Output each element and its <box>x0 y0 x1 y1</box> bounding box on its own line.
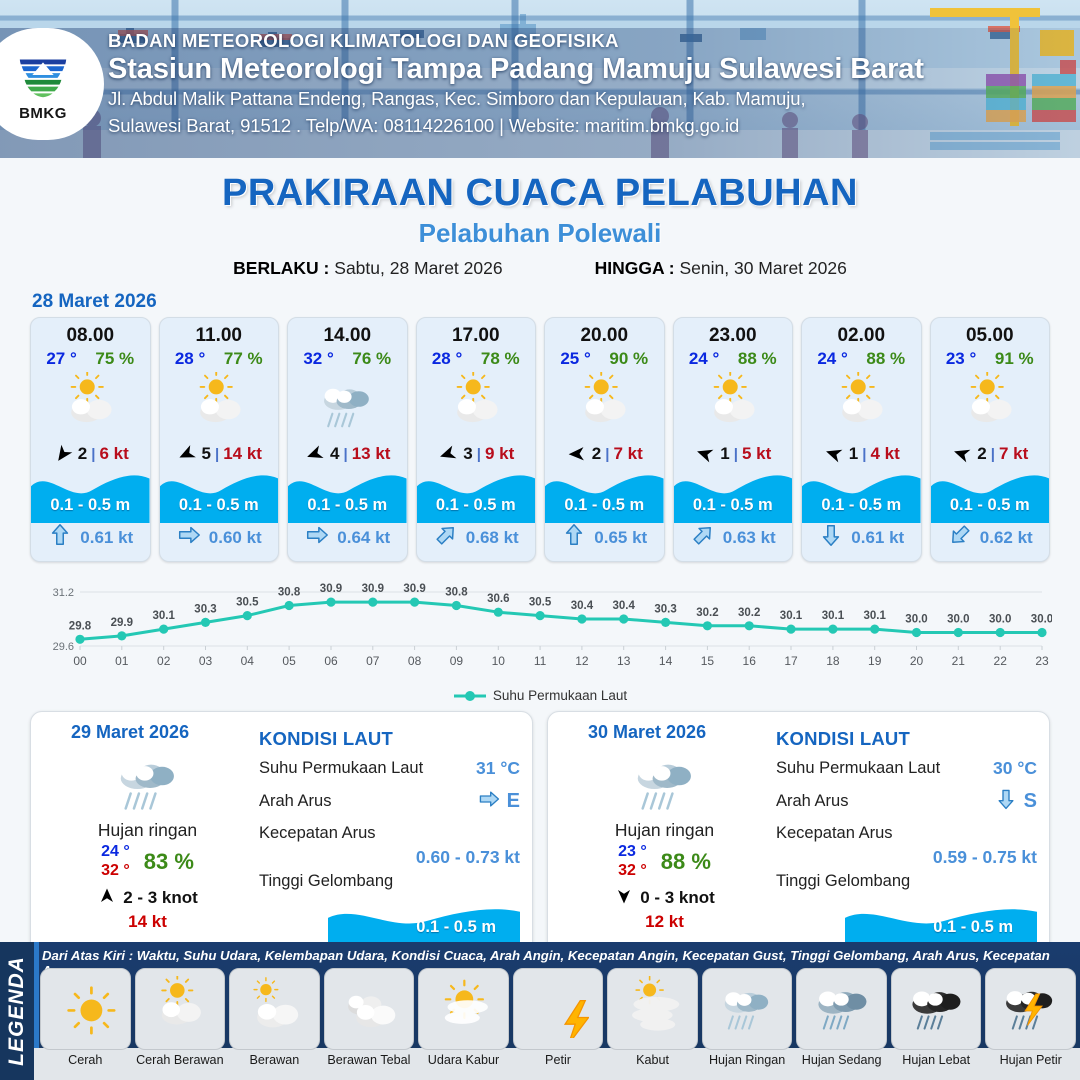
current-speed-label: Kecepatan Arus <box>259 824 520 843</box>
current-speed-row: Kecepatan Arus 0.60 - 0.73 kt <box>259 824 520 868</box>
svg-text:30.9: 30.9 <box>403 583 425 595</box>
wind-direction-arrow-icon <box>823 444 845 464</box>
svg-text:30.4: 30.4 <box>613 600 636 612</box>
hujan-ringan-icon <box>45 746 250 818</box>
valid-until-value: Senin, 30 Maret 2026 <box>680 258 847 278</box>
cerah-berawan-icon <box>802 371 921 437</box>
kabut-icon <box>622 976 684 1043</box>
current-row: 0.64 kt <box>288 522 407 553</box>
current-speed: 0.62 kt <box>980 528 1033 548</box>
daily-condition: Hujan ringan <box>562 820 767 841</box>
svg-text:06: 06 <box>324 654 338 668</box>
legend-item <box>229 968 320 1050</box>
wind-direction-arrow-icon <box>951 444 973 464</box>
legend-item <box>796 968 887 1050</box>
valid-from-value: Sabtu, 28 Maret 2026 <box>334 258 502 278</box>
current-direction-arrow-icon <box>947 522 973 553</box>
agency-name: BADAN METEOROLOGI KLIMATOLOGI DAN GEOFIS… <box>108 30 924 52</box>
current-direction-value-wrap: S <box>994 787 1037 816</box>
forecast-infographic: BMKG BADAN METEOROLOGI KLIMATOLOGI DAN G… <box>0 0 1080 1080</box>
daily-temp-column: 23 ° 32 ° <box>618 843 647 881</box>
hujan-ringan-icon <box>288 371 407 437</box>
hourly-temperature: 28 ° <box>432 349 462 369</box>
daily-left-block: Hujan ringan 23 ° 32 ° 88 % 0 - 3 knot 1… <box>562 746 767 932</box>
hourly-temp-hum-row: 25 ° 90 % <box>545 347 664 369</box>
legend-side-title-wrap: LEGENDA <box>0 942 34 1080</box>
wind-direction-arrow-icon <box>304 444 326 464</box>
wind-scale-number: 2 <box>592 444 601 464</box>
hourly-temperature: 23 ° <box>946 349 976 369</box>
daily-temp-max: 32 ° <box>618 862 647 881</box>
current-direction-value: S <box>1024 790 1037 813</box>
chart-legend-marker-icon <box>453 690 487 702</box>
wind-separator: | <box>991 446 995 463</box>
svg-text:30.2: 30.2 <box>696 607 718 619</box>
validity-row: BERLAKU : Sabtu, 28 Maret 2026 HINGGA : … <box>0 258 1080 279</box>
hourly-temp-hum-row: 24 ° 88 % <box>674 347 793 369</box>
current-row: 0.68 kt <box>417 522 536 553</box>
legend-item-label: Kabut <box>607 1053 698 1067</box>
cerah-berawan-icon <box>674 371 793 437</box>
hourly-humidity: 88 % <box>738 349 777 369</box>
svg-text:30.1: 30.1 <box>153 610 176 622</box>
legend-item-label: Cerah Berawan <box>135 1053 226 1067</box>
wind-direction-arrow-icon <box>437 444 459 464</box>
current-direction-label: Arah Arus <box>776 792 848 811</box>
svg-text:20: 20 <box>910 654 924 668</box>
legend-item <box>135 968 226 1050</box>
hujan-ringan-icon <box>562 746 767 818</box>
legend-item-label: Hujan Sedang <box>796 1053 887 1067</box>
sst-label: Suhu Permukaan Laut <box>259 759 423 778</box>
svg-text:00: 00 <box>73 654 87 668</box>
svg-text:30.5: 30.5 <box>236 597 259 609</box>
current-direction-row: Arah Arus E <box>259 787 520 816</box>
daily-panel-list: 29 Maret 2026 Hujan ringan 24 ° 32 ° 83 … <box>0 703 1080 955</box>
wave-height: 0.1 - 0.5 m <box>31 496 150 515</box>
wave-height: 0.1 - 0.5 m <box>288 496 407 515</box>
wind-scale-number: 1 <box>720 444 729 464</box>
hourly-card: 23.00 24 ° 88 % 1 | 5 kt 0.1 - 0.5 m 0.6… <box>673 317 794 562</box>
sst-value: 31 °C <box>476 758 520 779</box>
hourly-card: 14.00 32 ° 76 % 4 | 13 kt 0.1 - 0.5 m 0.… <box>287 317 408 562</box>
wind-separator: | <box>862 446 866 463</box>
wind-gust-speed: 7 kt <box>999 444 1028 464</box>
hourly-temp-hum-row: 23 ° 91 % <box>931 347 1050 369</box>
svg-text:30.4: 30.4 <box>571 600 594 612</box>
svg-text:13: 13 <box>617 654 631 668</box>
current-speed: 0.61 kt <box>851 528 904 548</box>
hourly-temp-hum-row: 28 ° 77 % <box>160 347 279 369</box>
hourly-temperature: 24 ° <box>689 349 719 369</box>
current-direction-arrow-icon <box>690 522 716 553</box>
daily-wind-range: 0 - 3 knot <box>640 888 715 908</box>
wave-height-value: 0.1 - 0.5 m <box>416 918 496 937</box>
legend-item-label: Hujan Lebat <box>891 1053 982 1067</box>
wind-direction-arrow-icon <box>176 444 198 464</box>
address-line-2: Sulawesi Barat, 91512 . Telp/WA: 0811422… <box>108 114 924 138</box>
cerah-icon <box>54 976 116 1043</box>
sea-condition-title: KONDISI LAUT <box>776 728 1037 750</box>
hourly-time: 17.00 <box>417 318 536 347</box>
sst-chart: 31.229.629.80029.90130.10230.30330.50430… <box>28 574 1052 686</box>
svg-text:30.3: 30.3 <box>654 603 676 615</box>
current-row: 0.62 kt <box>931 522 1050 553</box>
valid-from-label: BERLAKU : <box>233 258 329 278</box>
current-speed: 0.65 kt <box>594 528 647 548</box>
cerah-berawan-icon <box>149 976 211 1043</box>
current-row: 0.63 kt <box>674 522 793 553</box>
hourly-temperature: 32 ° <box>303 349 333 369</box>
hourly-time: 02.00 <box>802 318 921 347</box>
svg-text:22: 22 <box>994 654 1008 668</box>
wind-scale-number: 1 <box>849 444 858 464</box>
cerah-berawan-icon <box>417 371 536 437</box>
daily-wind-row: 2 - 3 knot <box>45 887 250 910</box>
legend-item-label: Petir <box>513 1053 604 1067</box>
svg-text:30.0: 30.0 <box>1031 614 1052 626</box>
hourly-humidity: 90 % <box>609 349 648 369</box>
hourly-card: 05.00 23 ° 91 % 2 | 7 kt 0.1 - 0.5 m 0.6… <box>930 317 1051 562</box>
wind-separator: | <box>344 446 348 463</box>
hujan-sedang-icon <box>811 976 873 1043</box>
daily-forecast-panel: 29 Maret 2026 Hujan ringan 24 ° 32 ° 83 … <box>30 711 533 955</box>
svg-text:23: 23 <box>1035 654 1049 668</box>
header-text-block: BADAN METEOROLOGI KLIMATOLOGI DAN GEOFIS… <box>108 30 924 138</box>
legend-strip: LEGENDA Dari Atas Kiri : Waktu, Suhu Uda… <box>0 942 1080 1080</box>
svg-text:10: 10 <box>492 654 506 668</box>
wind-separator: | <box>605 446 609 463</box>
svg-text:30.0: 30.0 <box>989 614 1011 626</box>
daily-temp-max: 32 ° <box>101 862 130 881</box>
svg-text:29.9: 29.9 <box>111 617 133 629</box>
chart-legend: Suhu Permukaan Laut <box>0 688 1080 703</box>
daily-humidity: 83 % <box>144 849 194 875</box>
sst-value: 30 °C <box>993 758 1037 779</box>
svg-text:30.8: 30.8 <box>445 587 468 599</box>
cerah-berawan-icon <box>545 371 664 437</box>
wave-height: 0.1 - 0.5 m <box>160 496 279 515</box>
hourly-card: 17.00 28 ° 78 % 3 | 9 kt 0.1 - 0.5 m 0.6… <box>416 317 537 562</box>
current-direction-arrow-icon <box>176 522 202 553</box>
svg-text:12: 12 <box>575 654 589 668</box>
daily-humidity: 88 % <box>661 849 711 875</box>
current-speed-value: 0.59 - 0.75 kt <box>776 847 1037 868</box>
wind-scale-number: 5 <box>202 444 211 464</box>
svg-text:11: 11 <box>534 654 547 668</box>
wind-scale-number: 2 <box>977 444 986 464</box>
hujan-ringan-icon <box>716 976 778 1043</box>
wind-separator: | <box>477 446 481 463</box>
svg-text:30.1: 30.1 <box>780 610 803 622</box>
current-row: 0.61 kt <box>802 522 921 553</box>
wave-height: 0.1 - 0.5 m <box>802 496 921 515</box>
legend-item <box>985 968 1076 1050</box>
hujan-lebat-icon <box>905 976 967 1043</box>
wave-height: 0.1 - 0.5 m <box>674 496 793 515</box>
current-speed: 0.68 kt <box>466 528 519 548</box>
hourly-card: 20.00 25 ° 90 % 2 | 7 kt 0.1 - 0.5 m 0.6… <box>544 317 665 562</box>
current-speed: 0.63 kt <box>723 528 776 548</box>
svg-text:30.8: 30.8 <box>278 587 301 599</box>
wind-direction-arrow-icon <box>566 444 588 464</box>
hourly-humidity: 77 % <box>224 349 263 369</box>
current-direction-arrow-icon <box>994 787 1018 816</box>
berawan-icon <box>243 976 305 1043</box>
current-row: 0.65 kt <box>545 522 664 553</box>
hourly-temperature: 25 ° <box>560 349 590 369</box>
svg-text:30.9: 30.9 <box>362 583 384 595</box>
cerah-berawan-icon <box>931 371 1050 437</box>
hourly-temp-hum-row: 28 ° 78 % <box>417 347 536 369</box>
daily-left-block: Hujan ringan 24 ° 32 ° 83 % 2 - 3 knot 1… <box>45 746 250 932</box>
wind-scale-number: 2 <box>78 444 87 464</box>
daily-wind-range: 2 - 3 knot <box>123 888 198 908</box>
wind-gust-speed: 6 kt <box>99 444 128 464</box>
current-direction-row: Arah Arus S <box>776 787 1037 816</box>
wave-height-label: Tinggi Gelombang <box>259 872 520 891</box>
sea-condition-block: KONDISI LAUT Suhu Permukaan Laut 30 °C A… <box>776 728 1037 947</box>
hourly-temp-hum-row: 32 ° 76 % <box>288 347 407 369</box>
wave-height: 0.1 - 0.5 m <box>931 496 1050 515</box>
wind-direction-arrow-icon <box>97 887 117 910</box>
daily-temp-min: 23 ° <box>618 843 647 862</box>
current-direction-arrow-icon <box>47 522 73 553</box>
current-direction-arrow-icon <box>433 522 459 553</box>
wind-direction-arrow-icon <box>694 444 716 464</box>
cerah-berawan-icon <box>160 371 279 437</box>
svg-text:29.6: 29.6 <box>53 641 74 653</box>
daily-temp-min: 24 ° <box>101 843 130 862</box>
page-title: PRAKIRAAN CUACA PELABUHAN <box>0 172 1080 215</box>
svg-text:14: 14 <box>659 654 673 668</box>
hourly-card: 08.00 27 ° 75 % 2 | 6 kt 0.1 - 0.5 m 0.6… <box>30 317 151 562</box>
wind-gust-speed: 7 kt <box>613 444 642 464</box>
legend-item-label: Cerah <box>40 1053 131 1067</box>
current-speed: 0.64 kt <box>337 528 390 548</box>
title-block: PRAKIRAAN CUACA PELABUHAN Pelabuhan Pole… <box>0 158 1080 279</box>
svg-text:30.5: 30.5 <box>529 597 552 609</box>
berawan-tebal-icon <box>338 976 400 1043</box>
hourly-humidity: 88 % <box>866 349 905 369</box>
svg-text:29.8: 29.8 <box>69 620 92 632</box>
legend-item-label: Hujan Ringan <box>702 1053 793 1067</box>
legend-item-label: Berawan Tebal <box>324 1053 415 1067</box>
legend-item <box>513 968 604 1050</box>
hourly-humidity: 75 % <box>95 349 134 369</box>
legend-item <box>418 968 509 1050</box>
svg-text:07: 07 <box>366 654 380 668</box>
sst-row: Suhu Permukaan Laut 31 °C <box>259 758 520 779</box>
hourly-time: 14.00 <box>288 318 407 347</box>
hourly-temp-hum-row: 27 ° 75 % <box>31 347 150 369</box>
wave-graphic: 0.1 - 0.5 m <box>259 895 520 947</box>
sea-condition-title: KONDISI LAUT <box>259 728 520 750</box>
current-direction-arrow-icon <box>561 522 587 553</box>
legend-icon-row <box>40 968 1076 1050</box>
daily-forecast-panel: 30 Maret 2026 Hujan ringan 23 ° 32 ° 88 … <box>547 711 1050 955</box>
legend-item <box>891 968 982 1050</box>
page-header: BMKG BADAN METEOROLOGI KLIMATOLOGI DAN G… <box>0 0 1080 158</box>
svg-text:03: 03 <box>199 654 213 668</box>
hourly-temp-hum-row: 24 ° 88 % <box>802 347 921 369</box>
daily-gust: 12 kt <box>562 912 767 932</box>
wind-gust-speed: 14 kt <box>223 444 262 464</box>
hourly-card-list: 08.00 27 ° 75 % 2 | 6 kt 0.1 - 0.5 m 0.6… <box>0 317 1080 562</box>
wind-direction-arrow-icon <box>52 444 74 464</box>
udara-kabur-icon <box>432 976 494 1043</box>
station-name: Stasiun Meteorologi Tampa Padang Mamuju … <box>108 54 924 84</box>
svg-text:30.0: 30.0 <box>905 614 927 626</box>
hourly-temperature: 27 ° <box>46 349 76 369</box>
current-direction-value-wrap: E <box>477 787 520 816</box>
wave-graphic: 0.1 - 0.5 m <box>776 895 1037 947</box>
wave-height-value: 0.1 - 0.5 m <box>933 918 1013 937</box>
svg-text:04: 04 <box>241 654 255 668</box>
sst-chart-svg: 31.229.629.80029.90130.10230.30330.50430… <box>28 574 1052 682</box>
valid-until: HINGGA : Senin, 30 Maret 2026 <box>595 258 847 279</box>
current-speed: 0.61 kt <box>80 528 133 548</box>
valid-from: BERLAKU : Sabtu, 28 Maret 2026 <box>233 258 502 279</box>
wave-height: 0.1 - 0.5 m <box>417 496 536 515</box>
hourly-humidity: 78 % <box>481 349 520 369</box>
bmkg-logo-label: BMKG <box>19 105 67 122</box>
hourly-temperature: 28 ° <box>175 349 205 369</box>
svg-text:21: 21 <box>952 654 966 668</box>
svg-text:16: 16 <box>743 654 757 668</box>
sst-label: Suhu Permukaan Laut <box>776 759 940 778</box>
current-direction-arrow-icon <box>477 787 501 816</box>
legend-item <box>702 968 793 1050</box>
hourly-time: 05.00 <box>931 318 1050 347</box>
hourly-temperature: 24 ° <box>817 349 847 369</box>
svg-text:17: 17 <box>784 654 798 668</box>
current-row: 0.61 kt <box>31 522 150 553</box>
wind-gust-speed: 9 kt <box>485 444 514 464</box>
daily-temp-hum-row: 23 ° 32 ° 88 % <box>562 843 767 881</box>
legend-item <box>40 968 131 1050</box>
svg-text:30.6: 30.6 <box>487 593 509 605</box>
svg-text:30.9: 30.9 <box>320 583 342 595</box>
address-line-1: Jl. Abdul Malik Pattana Endeng, Rangas, … <box>108 87 924 111</box>
legend-item-label: Berawan <box>229 1053 320 1067</box>
wind-separator: | <box>91 446 95 463</box>
svg-text:08: 08 <box>408 654 422 668</box>
hourly-humidity: 91 % <box>995 349 1034 369</box>
svg-text:30.3: 30.3 <box>194 603 216 615</box>
legend-item <box>324 968 415 1050</box>
sea-condition-block: KONDISI LAUT Suhu Permukaan Laut 31 °C A… <box>259 728 520 947</box>
wind-scale-number: 4 <box>330 444 339 464</box>
hourly-humidity: 76 % <box>352 349 391 369</box>
daily-condition: Hujan ringan <box>45 820 250 841</box>
hourly-time: 20.00 <box>545 318 664 347</box>
hourly-card: 02.00 24 ° 88 % 1 | 4 kt 0.1 - 0.5 m 0.6… <box>801 317 922 562</box>
sst-row: Suhu Permukaan Laut 30 °C <box>776 758 1037 779</box>
svg-text:05: 05 <box>282 654 296 668</box>
svg-text:30.2: 30.2 <box>738 607 760 619</box>
current-speed-value: 0.60 - 0.73 kt <box>259 847 520 868</box>
daily-wind-row: 0 - 3 knot <box>562 887 767 910</box>
daily-temp-hum-row: 24 ° 32 ° 83 % <box>45 843 250 881</box>
svg-text:18: 18 <box>826 654 840 668</box>
current-speed-label: Kecepatan Arus <box>776 824 1037 843</box>
wind-gust-speed: 4 kt <box>870 444 899 464</box>
hourly-time: 08.00 <box>31 318 150 347</box>
daily-temp-column: 24 ° 32 ° <box>101 843 130 881</box>
hourly-time: 11.00 <box>160 318 279 347</box>
wind-separator: | <box>215 446 219 463</box>
wind-scale-number: 3 <box>463 444 472 464</box>
valid-until-label: HINGGA : <box>595 258 675 278</box>
current-speed: 0.60 kt <box>209 528 262 548</box>
legend-item-label: Udara Kabur <box>418 1053 509 1067</box>
svg-text:01: 01 <box>115 654 129 668</box>
cerah-berawan-icon <box>31 371 150 437</box>
current-direction-value: E <box>507 790 520 813</box>
svg-text:30.0: 30.0 <box>947 614 969 626</box>
svg-text:02: 02 <box>157 654 171 668</box>
svg-text:09: 09 <box>450 654 464 668</box>
legend-item <box>607 968 698 1050</box>
current-row: 0.60 kt <box>160 522 279 553</box>
current-direction-arrow-icon <box>818 522 844 553</box>
chart-legend-label: Suhu Permukaan Laut <box>493 688 627 703</box>
svg-text:15: 15 <box>701 654 715 668</box>
legend-side-title: LEGENDA <box>5 956 29 1066</box>
wave-height-label: Tinggi Gelombang <box>776 872 1037 891</box>
wind-gust-speed: 13 kt <box>352 444 391 464</box>
svg-text:30.1: 30.1 <box>822 610 845 622</box>
petir-icon <box>527 976 589 1043</box>
hourly-time: 23.00 <box>674 318 793 347</box>
hourly-date: 28 Maret 2026 <box>32 291 1080 313</box>
hourly-card: 11.00 28 ° 77 % 5 | 14 kt 0.1 - 0.5 m 0.… <box>159 317 280 562</box>
svg-text:31.2: 31.2 <box>53 587 74 599</box>
current-direction-arrow-icon <box>304 522 330 553</box>
legend-item-label: Hujan Petir <box>985 1053 1076 1067</box>
current-direction-label: Arah Arus <box>259 792 331 811</box>
legend-label-row: CerahCerah BerawanBerawanBerawan TebalUd… <box>40 1053 1076 1067</box>
svg-text:19: 19 <box>868 654 882 668</box>
current-speed-row: Kecepatan Arus 0.59 - 0.75 kt <box>776 824 1037 868</box>
svg-text:30.1: 30.1 <box>864 610 887 622</box>
bmkg-logo-icon <box>14 46 72 104</box>
wind-direction-arrow-icon <box>614 887 634 910</box>
hujan-petir-icon <box>1000 976 1062 1043</box>
page-subtitle: Pelabuhan Polewali <box>0 218 1080 249</box>
wave-height: 0.1 - 0.5 m <box>545 496 664 515</box>
wind-gust-speed: 5 kt <box>742 444 771 464</box>
wind-separator: | <box>734 446 738 463</box>
daily-gust: 14 kt <box>45 912 250 932</box>
